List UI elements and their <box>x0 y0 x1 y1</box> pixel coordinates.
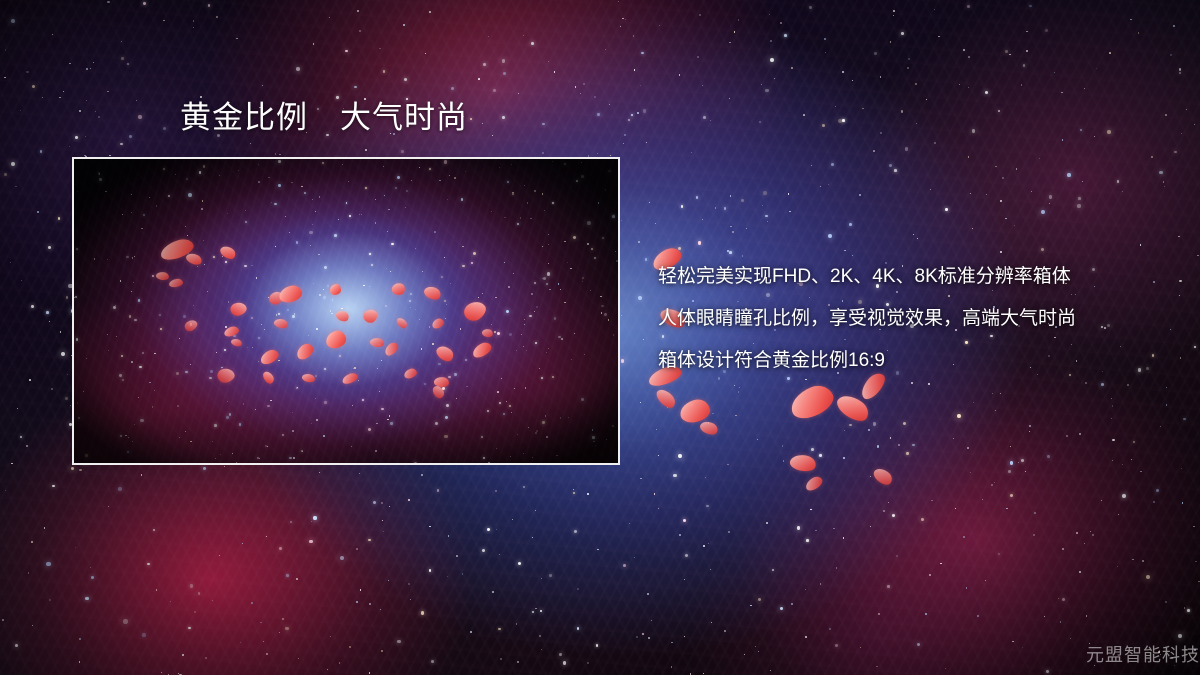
body-text-block: 轻松完美实现FHD、2K、4K、8K标准分辨率箱体 人体眼睛瞳孔比例，享受视觉效… <box>658 256 1178 382</box>
presentation-slide: 黄金比例 大气时尚 轻松完美实现FHD、2K、4K、8K标准分辨率箱体 人体眼睛… <box>0 0 1200 675</box>
framed-image-panel <box>72 157 620 465</box>
body-line-1: 轻松完美实现FHD、2K、4K、8K标准分辨率箱体 <box>658 256 1178 298</box>
page-title: 黄金比例 大气时尚 <box>180 101 468 135</box>
body-line-2: 人体眼睛瞳孔比例，享受视觉效果，高端大气时尚 <box>658 298 1178 340</box>
panel-vignette <box>74 159 618 463</box>
panel-image <box>74 159 618 463</box>
watermark-brand: 元盟智能科技 <box>1086 641 1200 667</box>
body-line-3: 箱体设计符合黄金比例16:9 <box>658 340 1178 382</box>
